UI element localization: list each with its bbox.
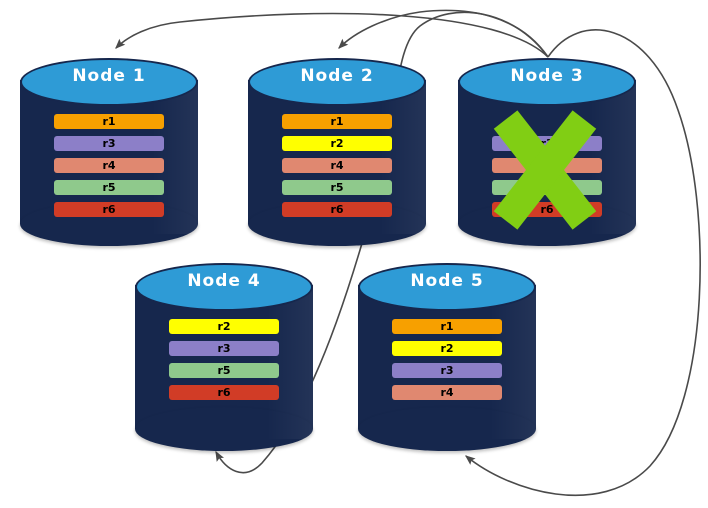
replica-bar[interactable]: r1 bbox=[392, 319, 502, 334]
replica-bar[interactable]: r4 bbox=[492, 158, 602, 173]
replica-bar[interactable]: r6 bbox=[492, 202, 602, 217]
replica-bar[interactable]: r6 bbox=[169, 385, 279, 400]
replica-bar[interactable]: r4 bbox=[54, 158, 164, 173]
edge-node3-to-node2 bbox=[339, 10, 548, 57]
replica-bar[interactable]: r5 bbox=[282, 180, 392, 195]
node-4-replica-list: r2 r3 r5 r6 bbox=[169, 319, 279, 407]
replica-bar[interactable]: r4 bbox=[282, 158, 392, 173]
node-2-replica-list: r1 r2 r4 r5 r6 bbox=[282, 114, 392, 224]
node-1-replica-list: r1 r3 r4 r5 r6 bbox=[54, 114, 164, 224]
replica-bar-placeholder bbox=[492, 114, 602, 129]
node-3[interactable]: Node 3 r3 r4 r5 r6 bbox=[458, 58, 636, 246]
node-1-label: Node 1 bbox=[20, 66, 198, 86]
node-1[interactable]: Node 1 r1 r3 r4 r5 r6 bbox=[20, 58, 198, 246]
replica-bar[interactable]: r6 bbox=[282, 202, 392, 217]
node-5-cylinder-bottom bbox=[358, 407, 536, 451]
replica-bar[interactable]: r3 bbox=[492, 136, 602, 151]
replica-bar[interactable]: r5 bbox=[54, 180, 164, 195]
node-2-label: Node 2 bbox=[248, 66, 426, 86]
replica-bar[interactable]: r1 bbox=[282, 114, 392, 129]
replica-bar[interactable]: r4 bbox=[392, 385, 502, 400]
replica-bar[interactable]: r5 bbox=[169, 363, 279, 378]
node-3-replica-list: r3 r4 r5 r6 bbox=[492, 114, 602, 224]
edge-node3-to-node1 bbox=[116, 14, 548, 57]
replica-bar[interactable]: r2 bbox=[392, 341, 502, 356]
node-5-label: Node 5 bbox=[358, 271, 536, 291]
replica-bar[interactable]: r1 bbox=[54, 114, 164, 129]
replica-bar[interactable]: r3 bbox=[169, 341, 279, 356]
diagram-canvas: Node 1 r1 r3 r4 r5 r6 Node 2 r1 r2 r4 r5… bbox=[0, 0, 708, 508]
replica-bar[interactable]: r5 bbox=[492, 180, 602, 195]
replica-bar[interactable]: r3 bbox=[54, 136, 164, 151]
replica-bar[interactable]: r2 bbox=[169, 319, 279, 334]
replica-bar[interactable]: r6 bbox=[54, 202, 164, 217]
node-5[interactable]: Node 5 r1 r2 r3 r4 bbox=[358, 263, 536, 451]
node-2[interactable]: Node 2 r1 r2 r4 r5 r6 bbox=[248, 58, 426, 246]
node-5-replica-list: r1 r2 r3 r4 bbox=[392, 319, 502, 407]
node-4-label: Node 4 bbox=[135, 271, 313, 291]
node-4[interactable]: Node 4 r2 r3 r5 r6 bbox=[135, 263, 313, 451]
replica-bar[interactable]: r3 bbox=[392, 363, 502, 378]
node-4-cylinder-bottom bbox=[135, 407, 313, 451]
replica-bar[interactable]: r2 bbox=[282, 136, 392, 151]
node-3-label: Node 3 bbox=[458, 66, 636, 86]
